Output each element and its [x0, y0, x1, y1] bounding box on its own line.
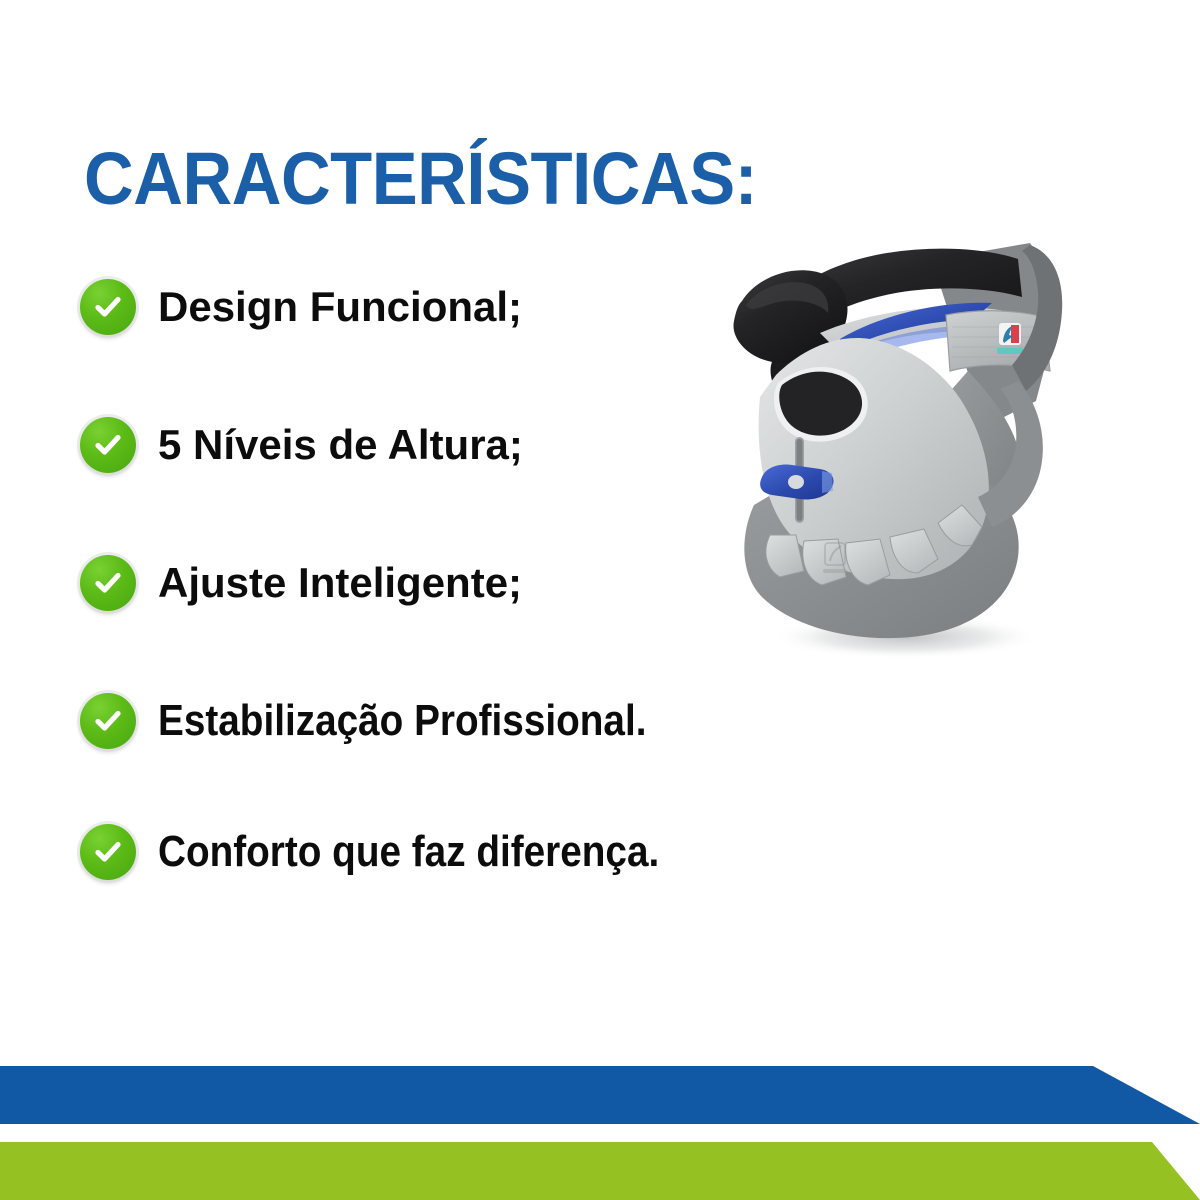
list-item: Conforto que faz diferença.	[80, 823, 980, 881]
list-item: Ajuste Inteligente;	[80, 554, 980, 612]
green-check-circle-icon	[80, 417, 136, 473]
green-check-circle-icon	[80, 824, 136, 880]
brand-logo-badge	[997, 323, 1023, 354]
list-item-label: Estabilização Profissional.	[158, 698, 646, 744]
slide-canvas: CARACTERÍSTICAS:	[0, 0, 1200, 1200]
green-check-circle-icon	[80, 279, 136, 335]
features-list: Design Funcional; 5 Níveis de Altura; Aj…	[80, 278, 980, 881]
list-item-label: Conforto que faz diferença.	[158, 829, 659, 875]
page-title: CARACTERÍSTICAS:	[84, 142, 757, 216]
green-check-circle-icon	[80, 555, 136, 611]
banner-blue-band	[0, 1066, 1200, 1124]
list-item-label: 5 Níveis de Altura;	[158, 423, 523, 467]
list-item: Estabilização Profissional.	[80, 692, 980, 750]
banner-green-band	[0, 1142, 1200, 1200]
list-item: Design Funcional;	[80, 278, 980, 336]
list-item: 5 Níveis de Altura;	[80, 416, 980, 474]
green-check-circle-icon	[80, 693, 136, 749]
list-item-label: Ajuste Inteligente;	[158, 561, 522, 605]
list-item-label: Design Funcional;	[158, 285, 522, 329]
bottom-banner	[0, 1040, 1200, 1200]
